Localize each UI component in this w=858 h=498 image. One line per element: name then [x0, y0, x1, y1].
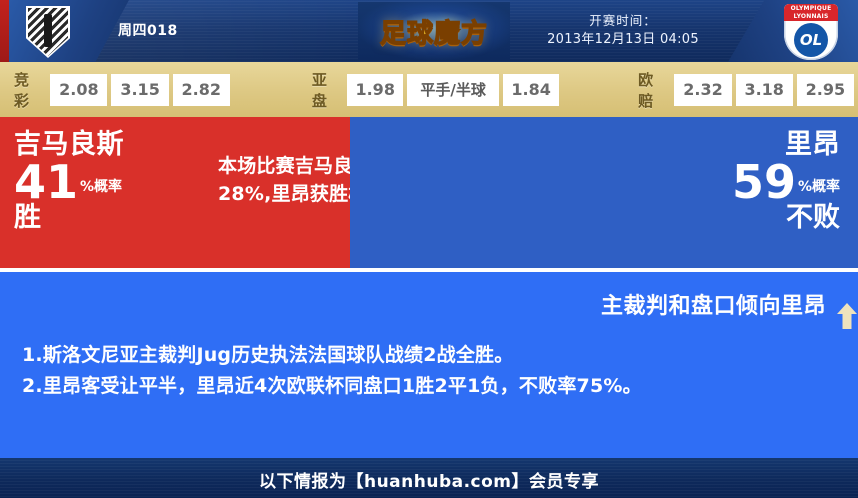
away-probability-panel: 里昂 59 %概率 不败 [350, 117, 858, 268]
away-probability-unit: %概率 [798, 176, 840, 196]
home-probability-value: 41 [14, 161, 78, 203]
odds-label-oupei: 欧赔 [638, 69, 666, 111]
odds-cell[interactable]: 1.98 [347, 74, 403, 106]
list-item: 1.斯洛文尼亚主裁判Jug历史执法法国球队战绩2战全胜。 [22, 340, 840, 371]
odds-group-jingcai: 竞彩 2.08 3.15 2.82 [14, 69, 234, 111]
list-item: 2.里昂客受让平半，里昂近4次欧联杯同盘口1胜2平1负，不败率75%。 [22, 371, 840, 402]
site-logo-text: 足球魔方 [380, 13, 488, 50]
membership-notice-bar: 以下情报为【huanhuba.com】会员专享 [0, 458, 858, 498]
away-probability-value: 59 [732, 161, 796, 203]
match-number: 周四018 [118, 20, 178, 40]
home-probability-value-group: 41 %概率 [14, 161, 350, 203]
odds-cell[interactable]: 2.95 [797, 74, 854, 106]
ol-crest-icon: OLYMPIQUE LYONNAIS OL [784, 4, 838, 60]
away-probability-value-group: 59 %概率 [350, 161, 840, 203]
odds-cell-handicap[interactable]: 平手/半球 [407, 74, 499, 106]
analysis-headline-row: 主裁判和盘口倾向里昂 [22, 288, 840, 320]
ol-badge-monogram: OL [794, 23, 828, 57]
match-header: 周四018 足球魔方 开赛时间： 2013年12月13日 04:05 OLYMP… [0, 0, 858, 62]
infographic-root: 周四018 足球魔方 开赛时间： 2013年12月13日 04:05 OLYMP… [0, 0, 858, 498]
header-red-accent [0, 0, 9, 62]
membership-notice-text: 以下情报为【huanhuba.com】会员专享 [259, 467, 599, 492]
kickoff-info: 开赛时间： 2013年12月13日 04:05 [508, 11, 738, 51]
odds-cell[interactable]: 2.82 [173, 74, 230, 106]
kickoff-label: 开赛时间： [508, 11, 738, 30]
odds-group-yapan: 亚盘 1.98 平手/半球 1.84 [312, 69, 563, 111]
home-probability-unit: %概率 [80, 176, 122, 196]
odds-bar: 竞彩 2.08 3.15 2.82 亚盘 1.98 平手/半球 1.84 欧赔 … [0, 62, 858, 117]
odds-cell[interactable]: 3.15 [111, 74, 168, 106]
analysis-section: 主裁判和盘口倾向里昂 1.斯洛文尼亚主裁判Jug历史执法法国球队战绩2战全胜。 … [0, 272, 858, 458]
kickoff-time: 2013年12月13日 04:05 [508, 30, 738, 50]
odds-group-oupei: 欧赔 2.32 3.18 2.95 [638, 69, 858, 111]
away-team-badge: OLYMPIQUE LYONNAIS OL [784, 4, 842, 60]
odds-label-yapan: 亚盘 [312, 69, 339, 111]
odds-cell[interactable]: 2.32 [674, 74, 731, 106]
odds-label-jingcai: 竞彩 [14, 69, 42, 111]
analysis-list: 1.斯洛文尼亚主裁判Jug历史执法法国球队战绩2战全胜。 2.里昂客受让平半，里… [22, 340, 840, 402]
home-probability-panel: 吉马良斯 41 %概率 胜 [0, 117, 350, 268]
home-team-badge [22, 5, 74, 59]
shield-icon [26, 6, 70, 58]
odds-cell[interactable]: 2.08 [50, 74, 107, 106]
site-logo[interactable]: 足球魔方 [358, 2, 510, 60]
odds-cell[interactable]: 3.18 [736, 74, 793, 106]
odds-cell[interactable]: 1.84 [503, 74, 559, 106]
ol-badge-caption: OLYMPIQUE LYONNAIS [784, 4, 838, 21]
probability-row: 吉马良斯 41 %概率 胜 赛果概率 本场比赛吉马良斯获胜概率41%,两队战平概… [0, 117, 858, 268]
analysis-headline: 主裁判和盘口倾向里昂 [601, 288, 826, 320]
